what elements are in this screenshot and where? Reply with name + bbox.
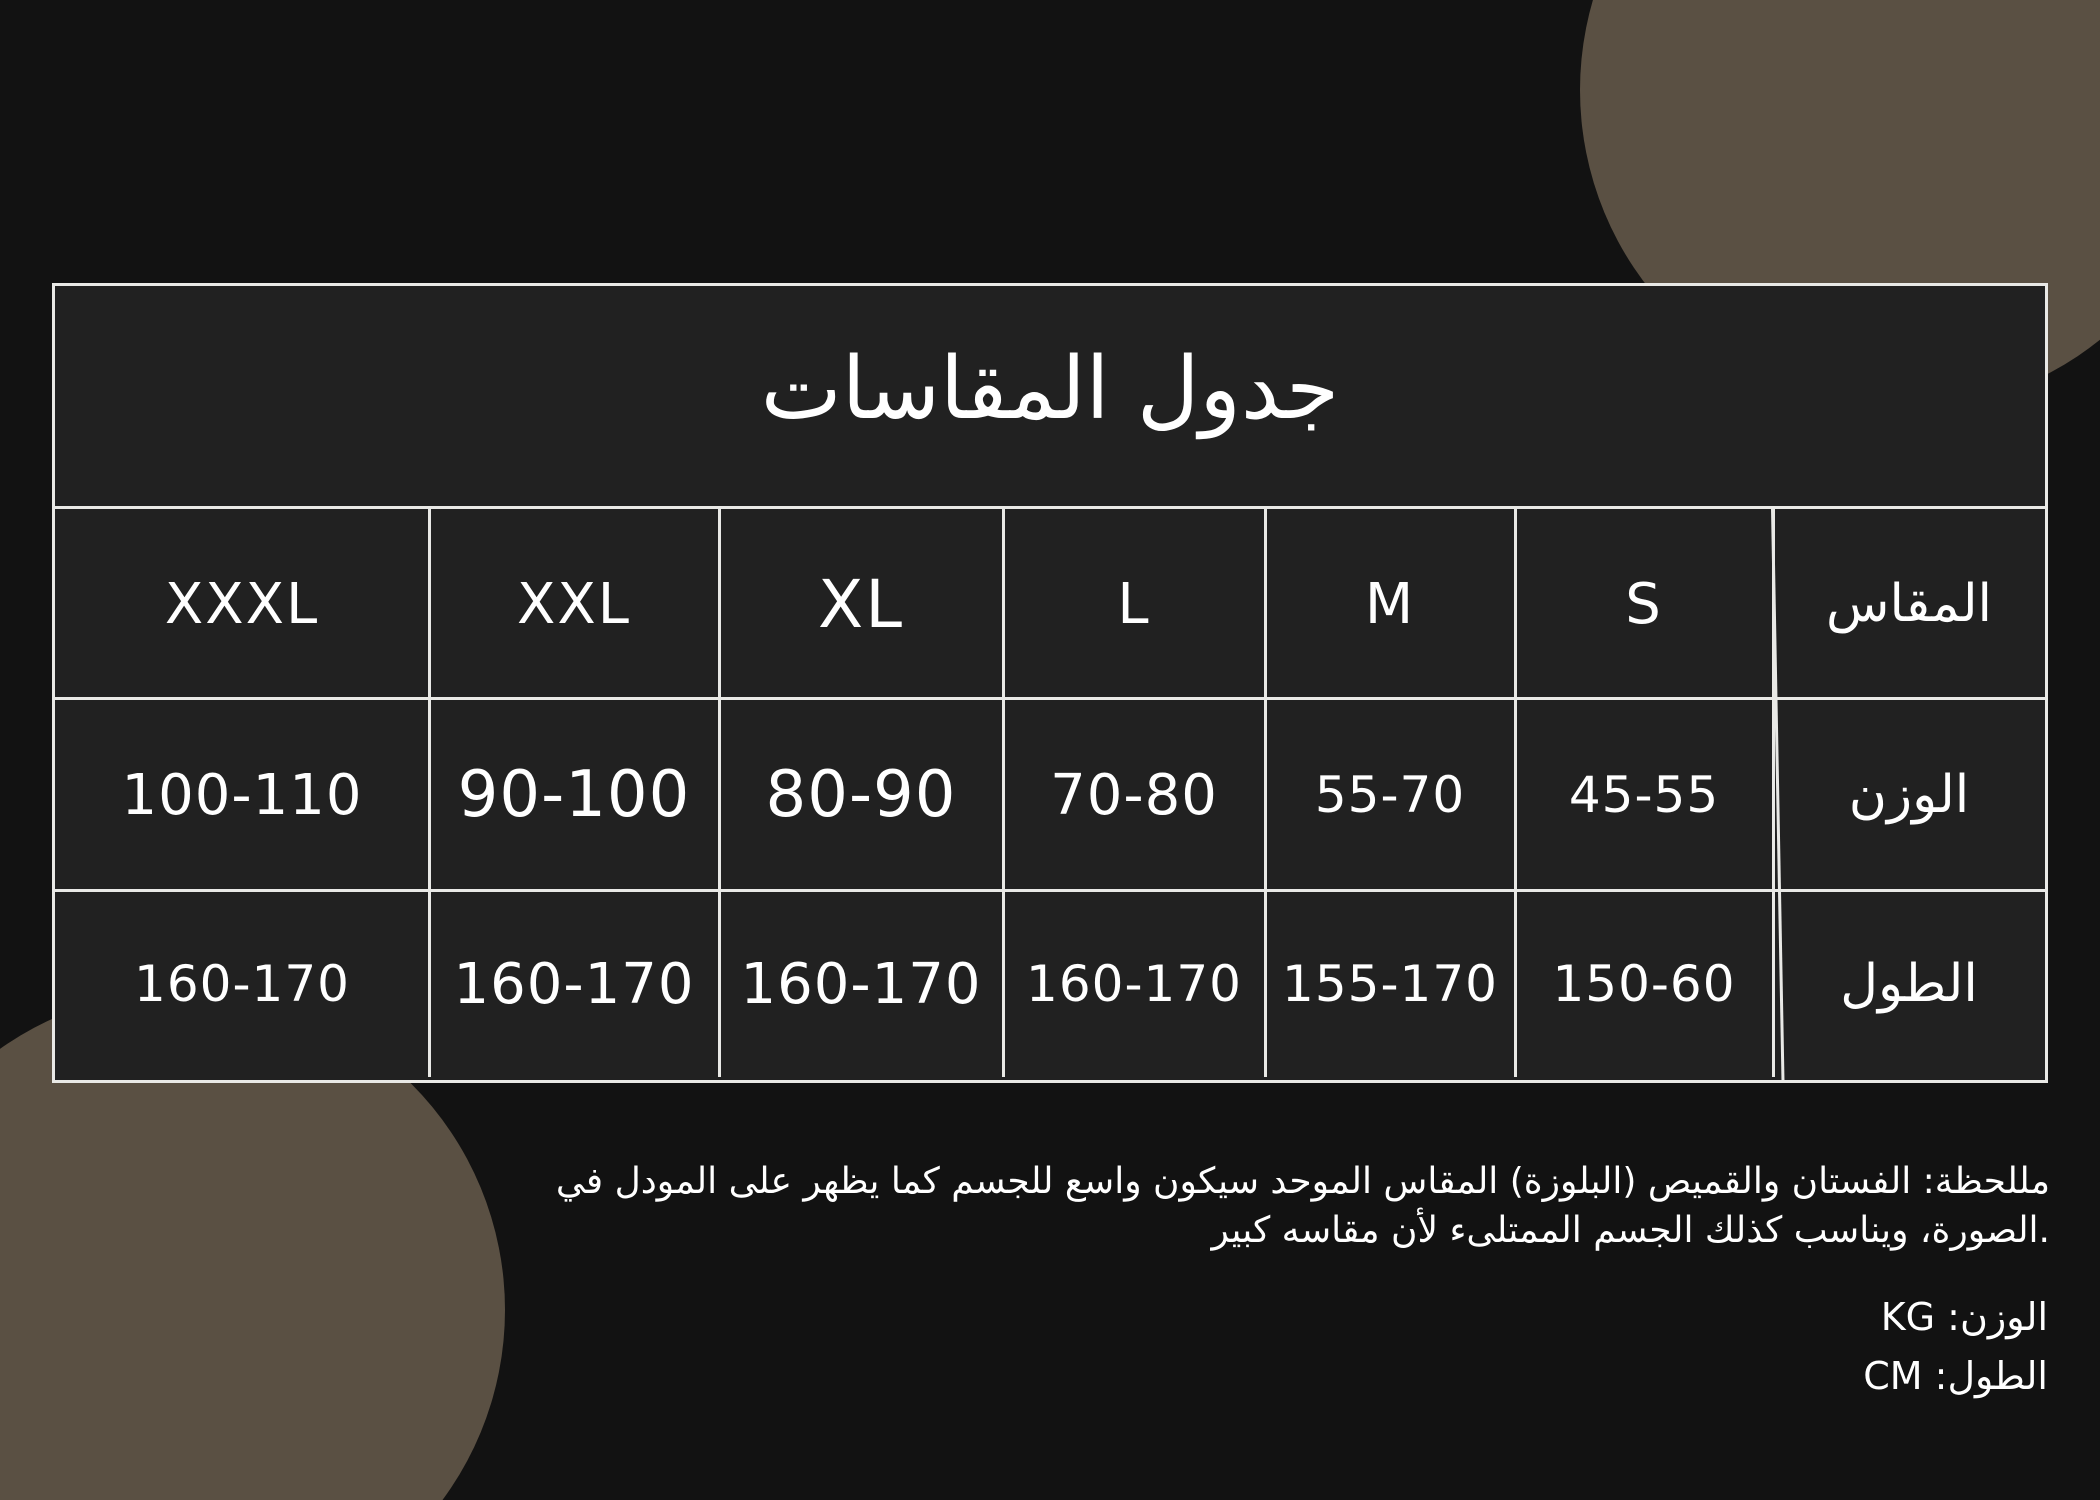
length-value-m: 155-170 xyxy=(1265,891,1515,1077)
unit-weight: الوزن: KG xyxy=(1348,1288,2048,1347)
header-cell-xl: XL xyxy=(719,509,1003,699)
header-cell-l: L xyxy=(1003,509,1265,699)
units-legend: الوزن: KG الطول: CM xyxy=(1348,1288,2048,1406)
weight-value-l: 70-80 xyxy=(1003,699,1265,891)
weight-value-xxl: 90-100 xyxy=(429,699,719,891)
page-title: جدول المقاسات xyxy=(55,286,2045,506)
length-value-xl: 160-170 xyxy=(719,891,1003,1077)
length-value-s: 150-60 xyxy=(1515,891,1773,1077)
unit-length: الطول: CM xyxy=(1348,1347,2048,1406)
table-row-weight: الوزن 45-55 55-70 70-80 80-90 90-100 100… xyxy=(55,699,2045,891)
weight-value-xl: 80-90 xyxy=(719,699,1003,891)
length-value-xxxl: 160-170 xyxy=(55,891,429,1077)
header-cell-s: S xyxy=(1515,509,1773,699)
header-cell-xxl: XXL xyxy=(429,509,719,699)
weight-value-s: 45-55 xyxy=(1515,699,1773,891)
weight-value-m: 55-70 xyxy=(1265,699,1515,891)
size-chart-table: جدول المقاسات المقاس S M L XL XXL XXXL ا… xyxy=(52,283,2048,1083)
row-label-length: الطول xyxy=(1773,891,2045,1077)
note-line-secondary: .الصورة، ويناسب كذلك الجسم الممتلىء لأن … xyxy=(60,1207,2050,1256)
table-header-row: المقاس S M L XL XXL XXXL xyxy=(55,509,2045,699)
notes-block: مللحظة: الفستان والقميص (البلوزة) المقاس… xyxy=(60,1158,2050,1255)
size-chart-grid: المقاس S M L XL XXL XXXL الوزن 45-55 55-… xyxy=(55,509,2045,1083)
weight-value-xxxl: 100-110 xyxy=(55,699,429,891)
header-cell-xxxl: XXXL xyxy=(55,509,429,699)
length-value-l: 160-170 xyxy=(1003,891,1265,1077)
note-line-primary: مللحظة: الفستان والقميص (البلوزة) المقاس… xyxy=(60,1158,2050,1207)
length-value-xxl: 160-170 xyxy=(429,891,719,1077)
table-row-length: الطول 150-60 155-170 160-170 160-170 160… xyxy=(55,891,2045,1077)
header-cell-size-label: المقاس xyxy=(1773,509,2045,699)
size-chart-canvas: جدول المقاسات المقاس S M L XL XXL XXXL ا… xyxy=(0,0,2100,1500)
row-label-weight: الوزن xyxy=(1773,699,2045,891)
header-cell-m: M xyxy=(1265,509,1515,699)
